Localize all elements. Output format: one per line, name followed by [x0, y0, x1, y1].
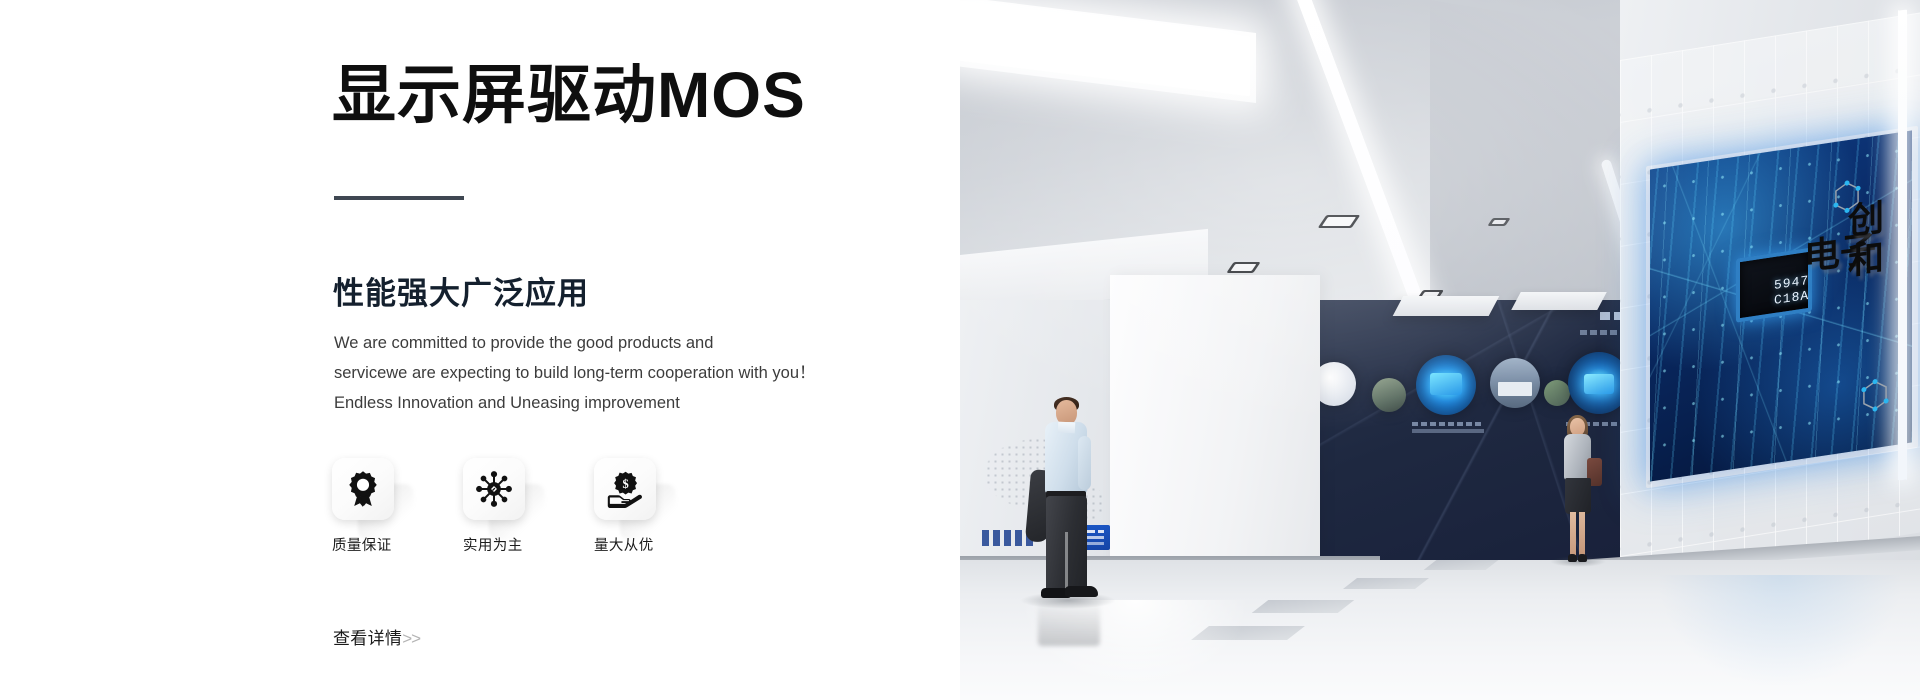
hanging-ceiling-panel: [1393, 296, 1500, 316]
feature-label: 实用为主: [463, 534, 535, 555]
description-line-1: We are committed to provide the good pro…: [334, 334, 713, 352]
feature-item-quality[interactable]: 质量保证: [332, 458, 404, 555]
floor-inlay: [1343, 578, 1429, 589]
floor-reflection-blue: [1660, 575, 1900, 685]
leg: [1579, 512, 1585, 556]
feature-item-practical[interactable]: 实用为主: [463, 458, 535, 555]
shoe: [1578, 554, 1587, 562]
exhibit-caption: [1412, 422, 1484, 426]
collar: [1058, 422, 1076, 434]
hanging-ceiling-panel: [1511, 292, 1607, 310]
banner-text-panel: 显示屏驱动MOS 性能强大广泛应用 We are committed to pr…: [0, 0, 960, 700]
floor-inlay: [1424, 560, 1499, 570]
exhibit-circle-photo: [1372, 378, 1406, 412]
svg-text:$: $: [622, 477, 628, 491]
description-line-3: Endless Innovation and Uneasing improvem…: [334, 394, 680, 412]
hand-holding-money-icon: $: [606, 470, 644, 508]
exhibition-wall-map-lines: [1320, 300, 1660, 580]
award-badge-icon: [344, 470, 382, 508]
person-reflection: [1038, 600, 1100, 646]
hero-banner: 显示屏驱动MOS 性能强大广泛应用 We are committed to pr…: [0, 0, 1920, 700]
feature-item-bulk-price[interactable]: $ 量大从优: [594, 458, 666, 555]
feature-icon-tile: [332, 458, 394, 520]
banner-description: We are committed to provide the good pro…: [334, 328, 894, 418]
skirt: [1565, 478, 1591, 514]
feature-list: 质量保证: [332, 458, 666, 555]
feature-icon-tile: [463, 458, 525, 520]
arm: [1078, 436, 1091, 490]
exhibit-circle-chip: [1416, 355, 1476, 415]
shoe: [1065, 586, 1098, 597]
showroom-photo: 5947C18A 电子 创和: [960, 0, 1920, 700]
banner-subtitle: 性能强大广泛应用: [333, 268, 589, 313]
sign-column-right: 创和: [1848, 194, 1916, 282]
trouser-seam: [1065, 532, 1068, 590]
view-details-link[interactable]: 查看详情>>: [333, 624, 420, 649]
view-details-label: 查看详情: [333, 629, 402, 648]
network-hub-icon: [475, 470, 513, 508]
exhibit-circle-photo: [1490, 358, 1540, 408]
page-title: 显示屏驱动MOS: [332, 62, 806, 129]
chevron-right-icon: >>: [402, 629, 420, 648]
exhibit-circle-photo: [1544, 380, 1570, 406]
hexagon-molecule-icon: [1860, 377, 1890, 415]
company-wall-sign: 电子 创和: [1796, 188, 1916, 443]
feature-label: 质量保证: [332, 534, 404, 555]
feature-icon-tile: $: [594, 458, 656, 520]
feature-label: 量大从优: [594, 534, 666, 555]
title-divider: [334, 196, 464, 200]
person-businessman: [1034, 400, 1104, 600]
floor-inlay: [1252, 600, 1355, 613]
person-businesswoman: [1556, 418, 1600, 568]
leg: [1570, 512, 1576, 556]
description-line-2: servicewe are expecting to build long-te…: [334, 364, 816, 382]
shoe: [1568, 554, 1577, 562]
